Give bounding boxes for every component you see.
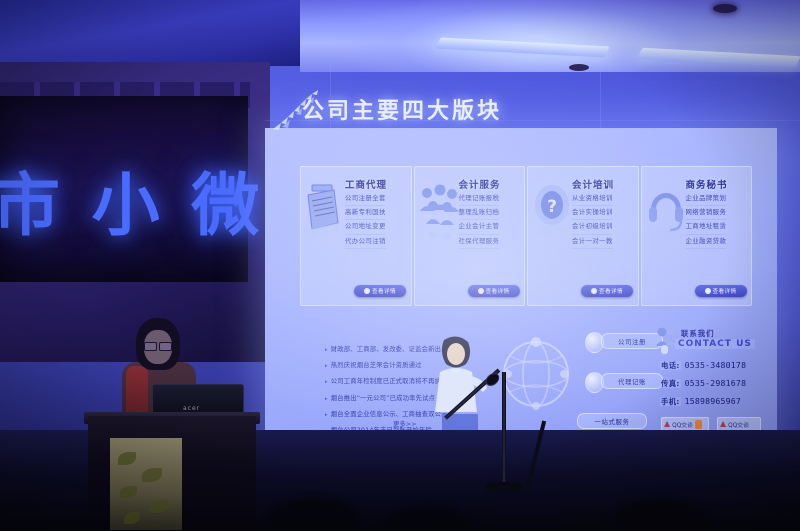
- contact-value: 15898965967: [685, 396, 741, 406]
- section-item[interactable]: 代办公司注销: [345, 235, 386, 249]
- contact-heading-cn: 联系我们: [681, 328, 715, 339]
- flow-node-3[interactable]: 一站式服务: [577, 413, 647, 429]
- contact-row-phone: 电话:0535-3480178: [660, 360, 746, 371]
- plus-dot-icon: [705, 288, 711, 294]
- contact-label: 传真:: [660, 379, 681, 388]
- qq-chat-button-2[interactable]: ▲ QQ交谈: [717, 417, 761, 431]
- section-item-list: 企业品牌策划 网络营销服务 工商地址租赁 企业融资贷款: [686, 192, 727, 249]
- view-detail-button[interactable]: 查看详情: [468, 285, 520, 297]
- plus-dot-icon: [478, 288, 484, 294]
- flow-node-2[interactable]: 代理记账: [601, 373, 663, 389]
- section-item[interactable]: 社保代理服务: [459, 235, 500, 249]
- section-heading: 会计培训: [572, 177, 614, 191]
- ceiling-speaker-icon: [569, 64, 589, 71]
- svg-text:?: ?: [547, 197, 557, 217]
- contact-row-mobile: 手机:15898965967: [660, 396, 741, 407]
- section-item[interactable]: 会计实操培训: [572, 206, 613, 220]
- more-link[interactable]: 更多>>: [393, 419, 417, 428]
- view-detail-label: 查看详情: [599, 287, 623, 295]
- slide-title: 公司主要四大版块: [302, 93, 502, 125]
- section-item[interactable]: 公司地址变更: [345, 220, 386, 234]
- contact-block: 联系我们 CONTACT US 电话:0535-3480178 传真:0535-…: [655, 324, 773, 444]
- section-item[interactable]: 从业资格培训: [572, 192, 613, 206]
- section-panel-3[interactable]: ? 会计培训 从业资格培训 会计实操培训 会计初级培训 会计一对一教 查看详情: [527, 166, 639, 306]
- section-item[interactable]: 公司注册全套: [345, 192, 386, 206]
- section-heading: 商务秘书: [686, 177, 728, 191]
- view-detail-button[interactable]: 查看详情: [354, 285, 406, 297]
- view-detail-button[interactable]: 查看详情: [695, 285, 747, 297]
- flow-node-label: 公司注册: [618, 337, 646, 346]
- question-head-icon: ?: [531, 179, 573, 249]
- plus-dot-icon: [591, 288, 597, 294]
- contact-label: 手机:: [660, 397, 681, 406]
- qq-penguin-icon: ▲: [664, 420, 670, 428]
- section-panel-1[interactable]: 工商代理 公司注册全套 高新专利国扶 公司地址变更 代办公司注销 查看详情: [300, 166, 412, 306]
- section-item[interactable]: 会计初级培训: [572, 220, 613, 234]
- section-item[interactable]: 网络营销服务: [686, 206, 727, 220]
- section-item-list: 公司注册全套 高新专利国扶 公司地址变更 代办公司注销: [345, 192, 386, 249]
- section-item[interactable]: 会计一对一教: [572, 235, 613, 249]
- section-item[interactable]: 企业会计主管: [459, 220, 500, 234]
- contact-row-fax: 传真:0535-2981678: [660, 378, 746, 389]
- section-heading: 会计服务: [459, 177, 501, 191]
- flow-node-label: 代理记账: [618, 377, 646, 386]
- section-item[interactable]: 企业融资贷款: [686, 235, 727, 249]
- document-stack-icon: [304, 179, 346, 249]
- microphone-stand-base: [486, 482, 522, 492]
- ceiling-speaker-icon: [713, 4, 737, 13]
- qq-status-icon: [695, 420, 702, 429]
- view-detail-label: 查看详情: [713, 287, 737, 295]
- people-group-icon: [418, 179, 460, 249]
- podium-front-panel: [110, 438, 182, 530]
- glasses-icon: [144, 342, 172, 349]
- plus-dot-icon: [364, 288, 370, 294]
- support-people-icon: [655, 326, 677, 354]
- screenshot-root: 市 小 微 公司主要四大版块: [0, 0, 800, 531]
- section-item[interactable]: 高新专利国扶: [345, 206, 386, 220]
- flow-node-label: 一站式服务: [595, 417, 630, 426]
- headset-icon: [645, 179, 687, 249]
- section-item-list: 代理记账报税 整理乱账归档 企业会计主管 社保代理服务: [459, 192, 500, 249]
- qq-chat-button-1[interactable]: ▲ QQ交谈: [661, 417, 709, 431]
- section-heading: 工商代理: [345, 177, 387, 191]
- contact-heading-en: CONTACT US: [675, 339, 755, 349]
- section-item[interactable]: 代理记账报税: [459, 192, 500, 206]
- section-item-list: 从业资格培训 会计实操培训 会计初级培训 会计一对一教: [572, 192, 613, 249]
- section-item[interactable]: 整理乱账归档: [459, 206, 500, 220]
- section-item[interactable]: 工商地址租赁: [686, 220, 727, 234]
- slide-title-area: 公司主要四大版块: [268, 92, 688, 132]
- view-detail-label: 查看详情: [372, 287, 396, 295]
- qq-chat-label: QQ交谈: [672, 420, 693, 429]
- microphone-stand-pole: [502, 372, 506, 488]
- backdrop-text: 市 小 微: [0, 150, 242, 249]
- four-sections-row: 工商代理 公司注册全套 高新专利国扶 公司地址变更 代办公司注销 查看详情: [300, 166, 752, 306]
- ceiling-left: [0, 0, 305, 66]
- section-item[interactable]: 企业品牌策划: [686, 192, 727, 206]
- section-panel-4[interactable]: 商务秘书 企业品牌策划 网络营销服务 工商地址租赁 企业融资贷款 查看详情: [641, 166, 753, 306]
- contact-value: 0535-2981678: [685, 378, 747, 388]
- flow-node-1[interactable]: 公司注册: [601, 333, 663, 349]
- view-detail-button[interactable]: 查看详情: [581, 285, 633, 297]
- laptop-brand-label: acer: [183, 405, 200, 412]
- contact-label: 电话:: [660, 361, 681, 370]
- section-panel-2[interactable]: 会计服务 代理记账报税 整理乱账归档 企业会计主管 社保代理服务 查看详情: [414, 166, 526, 306]
- qq-chat-label: QQ交谈: [728, 420, 749, 429]
- qq-penguin-icon: ▲: [720, 420, 726, 428]
- view-detail-label: 查看详情: [486, 287, 510, 295]
- contact-value: 0535-3480178: [685, 360, 747, 370]
